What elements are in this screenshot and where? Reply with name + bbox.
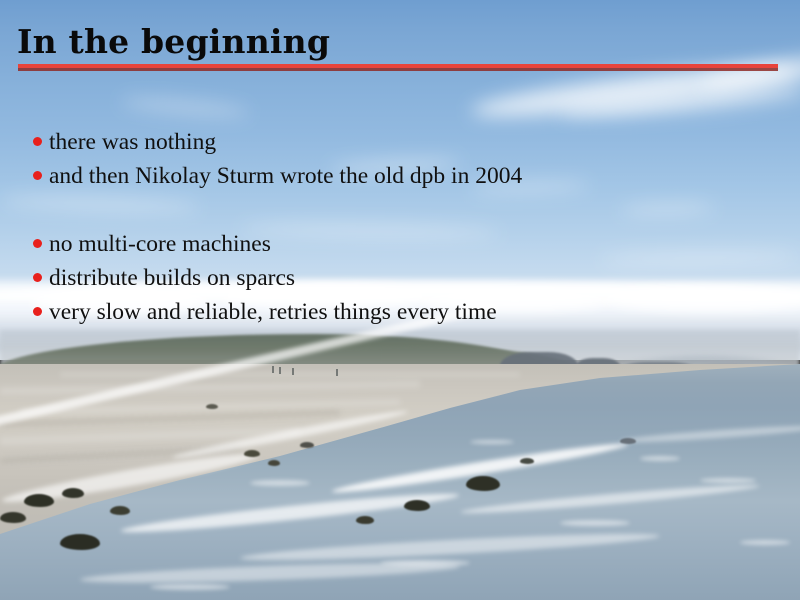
page-title: In the beginning bbox=[17, 22, 330, 62]
bullet-dot-icon bbox=[33, 239, 42, 248]
title-divider bbox=[18, 64, 778, 71]
bullet-dot-icon bbox=[33, 137, 42, 146]
bullet-list: there was nothing and then Nikolay Sturm… bbox=[33, 126, 773, 330]
list-item: no multi-core machines bbox=[33, 228, 773, 262]
title-divider-shadow bbox=[18, 68, 778, 71]
presentation-slide: In the beginning there was nothing and t… bbox=[0, 0, 800, 600]
list-item: and then Nikolay Sturm wrote the old dpb… bbox=[33, 160, 773, 194]
list-item-label: no multi-core machines bbox=[49, 228, 773, 260]
list-item: very slow and reliable, retries things e… bbox=[33, 296, 773, 330]
list-item-label: and then Nikolay Sturm wrote the old dpb… bbox=[49, 160, 773, 192]
list-item: distribute builds on sparcs bbox=[33, 262, 773, 296]
list-item-label: there was nothing bbox=[49, 126, 773, 158]
list-item-label: distribute builds on sparcs bbox=[49, 262, 773, 294]
slide-content: In the beginning there was nothing and t… bbox=[0, 0, 800, 600]
list-item: there was nothing bbox=[33, 126, 773, 160]
list-spacer bbox=[33, 194, 773, 228]
bullet-dot-icon bbox=[33, 307, 42, 316]
bullet-dot-icon bbox=[33, 171, 42, 180]
bullet-dot-icon bbox=[33, 273, 42, 282]
list-item-label: very slow and reliable, retries things e… bbox=[49, 296, 773, 328]
